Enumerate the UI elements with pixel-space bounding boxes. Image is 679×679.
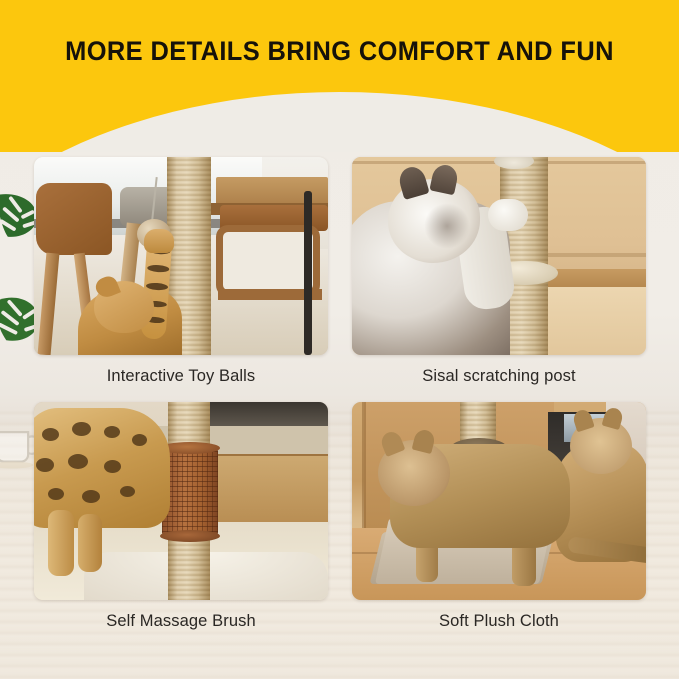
feature-caption: Soft Plush Cloth bbox=[352, 600, 646, 637]
bengal-cat-paw bbox=[144, 229, 174, 253]
bristle-massage-brush-ring bbox=[162, 446, 218, 538]
chair-right-leg bbox=[304, 191, 312, 355]
feature-photo-interactive-toy-balls[interactable] bbox=[34, 157, 328, 355]
bengal-cat-leg bbox=[78, 514, 102, 572]
feature-caption: Interactive Toy Balls bbox=[34, 355, 328, 392]
feature-caption: Self Massage Brush bbox=[34, 600, 328, 637]
ragdoll-cat-face-mask bbox=[424, 203, 470, 249]
feature-card-sisal-scratching-post[interactable]: Sisal scratching post bbox=[352, 157, 646, 392]
feature-photo-soft-plush-cloth[interactable] bbox=[352, 402, 646, 600]
feature-card-interactive-toy-balls[interactable]: Interactive Toy Balls bbox=[34, 157, 328, 392]
feature-caption: Sisal scratching post bbox=[352, 355, 646, 392]
feature-photo-sisal-scratching-post[interactable] bbox=[352, 157, 646, 355]
feature-card-self-massage-brush[interactable]: Self Massage Brush bbox=[34, 402, 328, 637]
chair-left-backrest bbox=[36, 183, 112, 255]
brush-ring-bottom-cap bbox=[160, 530, 220, 542]
wall-edge bbox=[362, 402, 366, 544]
feature-card-soft-plush-cloth[interactable]: Soft Plush Cloth bbox=[352, 402, 646, 637]
page-title: MORE DETAILS BRING COMFORT AND FUN bbox=[14, 36, 666, 67]
feature-photo-self-massage-brush[interactable] bbox=[34, 402, 328, 600]
header-arc-divider bbox=[0, 92, 679, 152]
header-banner: MORE DETAILS BRING COMFORT AND FUN bbox=[0, 0, 679, 152]
ragdoll-cat-paw bbox=[488, 199, 528, 231]
product-infographic-page: MORE DETAILS BRING COMFORT AND FUN bbox=[0, 0, 679, 679]
bengal-cat-leg bbox=[48, 510, 74, 576]
feature-gallery-grid: Interactive Toy Balls Sisal s bbox=[34, 157, 646, 637]
